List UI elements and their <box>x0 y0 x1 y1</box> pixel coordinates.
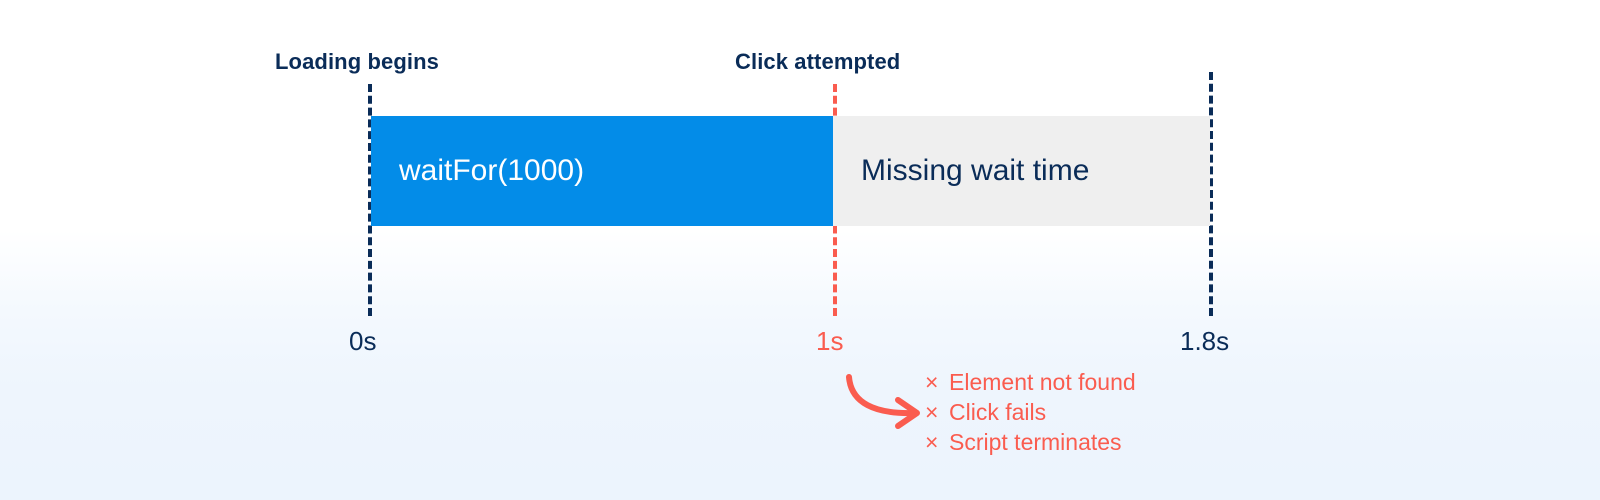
curved-arrow-icon <box>820 358 930 428</box>
bar-wait-for: waitFor(1000) <box>371 116 833 226</box>
failure-item-label: Element not found <box>949 369 1136 396</box>
bar-label-wait-for: waitFor(1000) <box>399 156 584 186</box>
axis-tick-0s: 0s <box>349 326 376 357</box>
failure-item-label: Click fails <box>949 399 1046 426</box>
marker-label-click-attempted: Click attempted <box>735 49 900 75</box>
cross-icon: × <box>925 369 949 396</box>
marker-label-loading-begins: Loading begins <box>275 49 439 75</box>
timeline-diagram: Loading begins Click attempted waitFor(1… <box>0 0 1600 500</box>
failure-item-element-not-found: × Element not found <box>925 369 1136 399</box>
failure-item-script-terminates: × Script terminates <box>925 429 1136 459</box>
axis-tick-1s: 1s <box>816 326 843 357</box>
axis-tick-1-8s: 1.8s <box>1180 326 1229 357</box>
failure-item-click-fails: × Click fails <box>925 399 1136 429</box>
timeline-bar-track: waitFor(1000) Missing wait time <box>371 116 1210 226</box>
cross-icon: × <box>925 429 949 456</box>
bar-missing-wait-time: Missing wait time <box>833 116 1210 226</box>
bar-label-missing-wait-time: Missing wait time <box>861 156 1089 186</box>
failure-list: × Element not found × Click fails × Scri… <box>925 369 1136 459</box>
failure-item-label: Script terminates <box>949 429 1122 456</box>
cross-icon: × <box>925 399 949 426</box>
